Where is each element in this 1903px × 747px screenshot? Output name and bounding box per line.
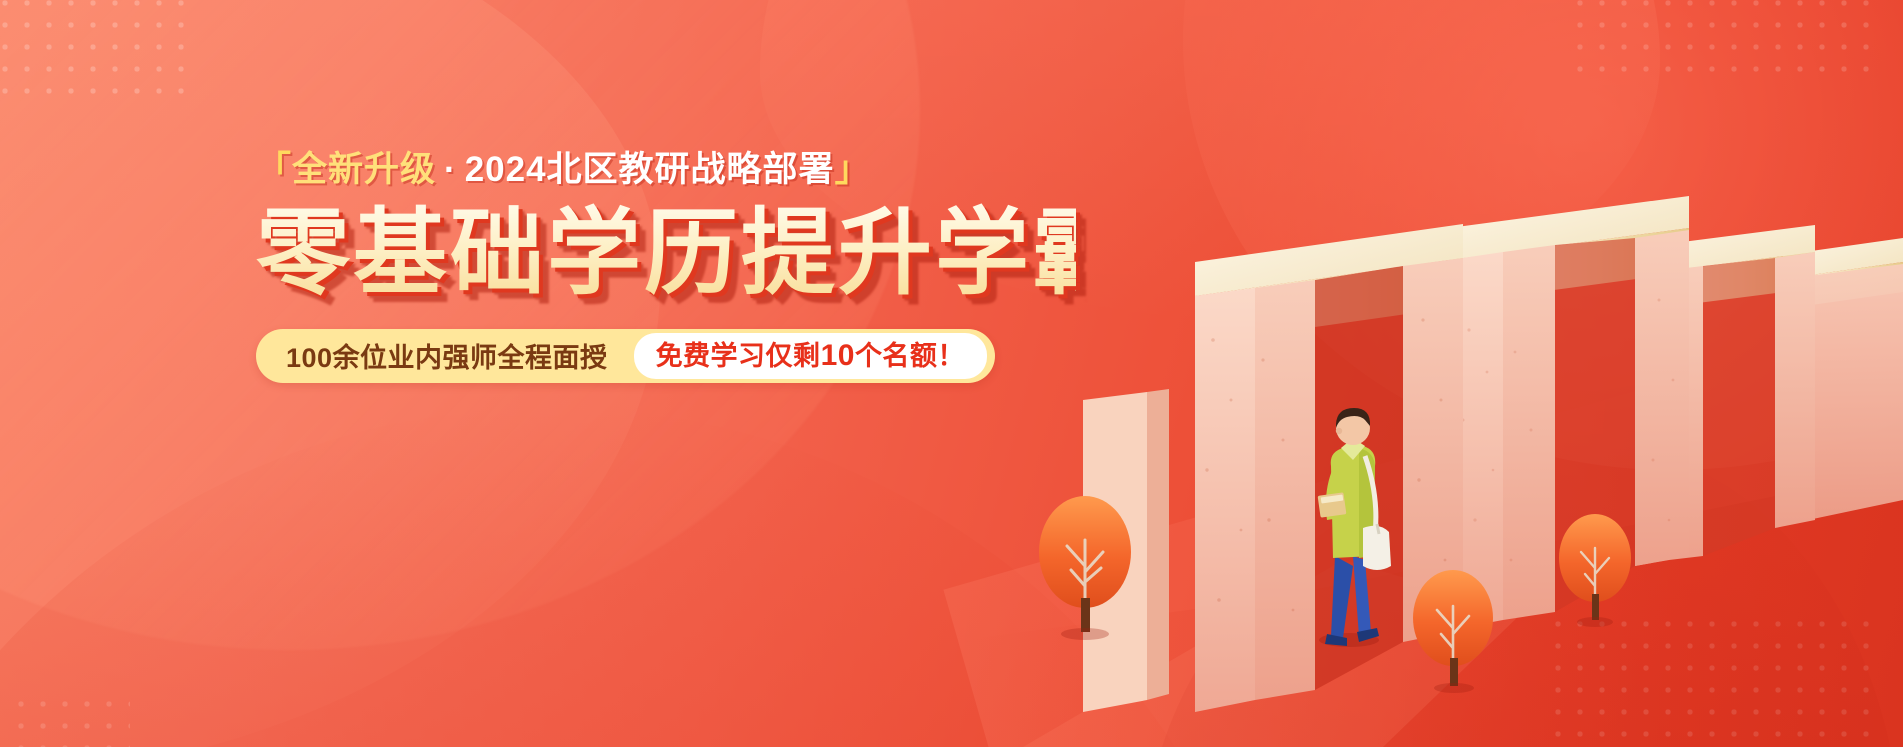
subtitle-highlight: 全新升级 xyxy=(292,150,436,189)
subtitle-separator: · xyxy=(436,150,465,189)
offer-seat-count: 10 xyxy=(821,339,855,372)
subtitle-open-bracket: 「 xyxy=(256,150,292,189)
subtitle-rest: 2024北区教研战略部署 xyxy=(465,150,835,189)
dot-grid-top-left xyxy=(0,0,184,104)
subtitle-close-bracket: 」 xyxy=(835,150,871,189)
offer-pill-right-badge: 免费学习仅剩10个名额！ xyxy=(634,333,987,379)
offer-prefix: 免费学习仅剩 xyxy=(656,341,821,371)
offer-pill-left-label: 100余位业内强师全程面授 xyxy=(286,336,634,375)
banner-subtitle: 「全新升级·2024北区教研战略部署」 xyxy=(256,152,1076,187)
banner-content: 「全新升级·2024北区教研战略部署」 零基础学历提升学霸班 100余位业内强师… xyxy=(256,152,1076,383)
promo-banner: 「全新升级·2024北区教研战略部署」 零基础学历提升学霸班 100余位业内强师… xyxy=(0,0,1903,747)
offer-suffix: 个名额！ xyxy=(855,341,965,371)
book-arch-illustration xyxy=(963,0,1903,747)
banner-headline: 零基础学历提升学霸班 xyxy=(256,203,1076,303)
dot-grid-bottom-left xyxy=(10,693,130,747)
offer-pill: 100余位业内强师全程面授 免费学习仅剩10个名额！ xyxy=(256,329,995,383)
